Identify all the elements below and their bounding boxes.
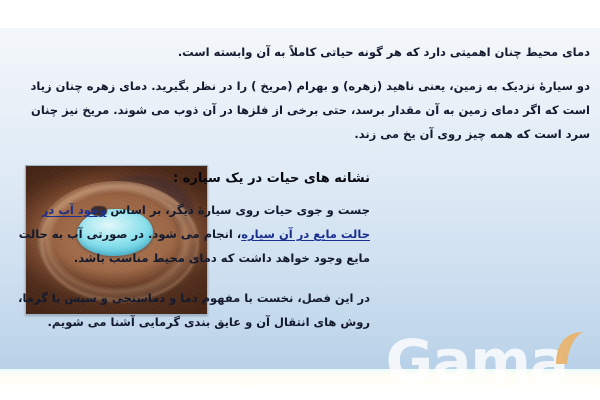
slide-canvas: دمای محیط چنان اهمیتی دارد که هر گونه حی…: [0, 0, 600, 400]
paragraph-chapter-overview: در این فصل، نخست با مفهوم دما و دماسنجی …: [10, 286, 370, 334]
background-bottom-band: [0, 369, 600, 400]
slide-text-column: دمای محیط چنان اهمیتی دارد که هر گونه حی…: [10, 40, 590, 344]
paragraph-life-search: جست و جوی حیات روی سیارهٔ دیگر، بر اساس …: [10, 198, 370, 270]
paragraph-temperature-importance: دمای محیط چنان اهمیتی دارد که هر گونه حی…: [10, 40, 590, 64]
paragraph-venus-mars: دو سیارهٔ نزدیک به زمین، یعنی ناهید (زهر…: [10, 74, 590, 146]
page-heading-life-signs: نشانه های حیات در یک سیاره :: [10, 168, 370, 190]
background-top-band: [0, 0, 600, 28]
paragraph-life-search-lead: جست و جوی حیات روی سیارهٔ دیگر، بر اساس: [106, 203, 370, 217]
spacer: [10, 156, 590, 162]
